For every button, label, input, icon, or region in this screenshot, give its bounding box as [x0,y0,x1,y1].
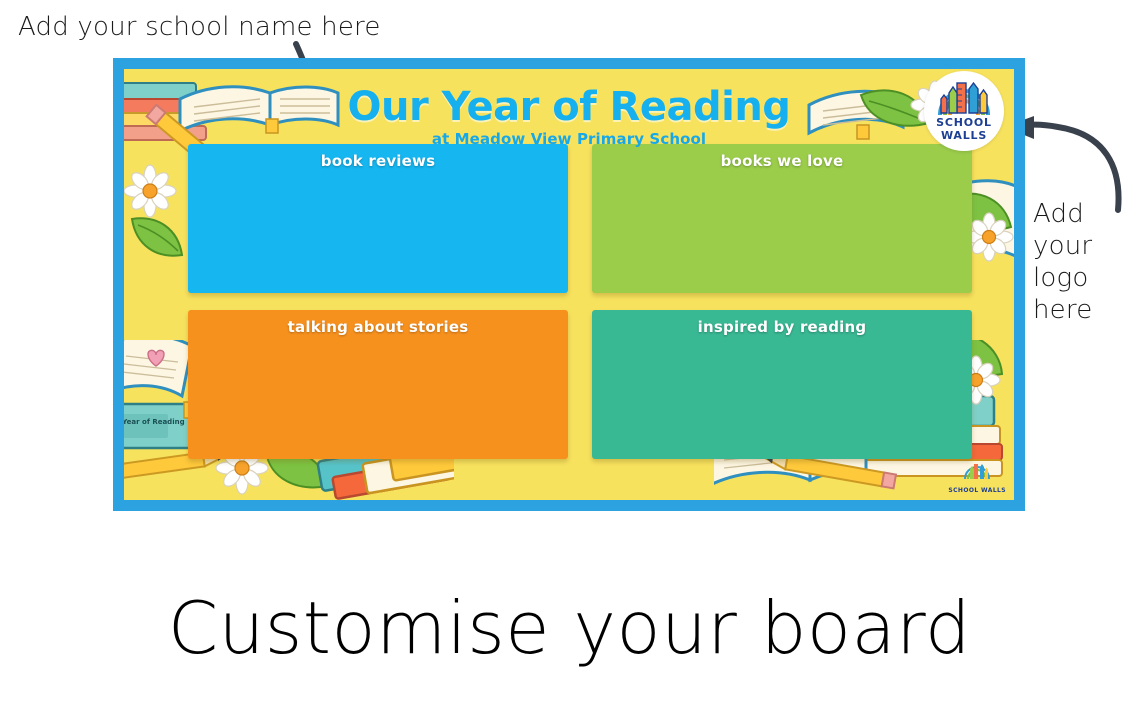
school-walls-emblem-icon [924,75,1004,121]
panel-grid: book reviews books we love talking about… [188,144,972,459]
panel-inspired-by-reading[interactable]: inspired by reading [592,310,972,459]
title-block: Our Year of Reading at Meadow View Prima… [124,85,1014,148]
panel-label-talking-about-stories: talking about stories [188,318,568,336]
panel-books-we-love[interactable]: books we love [592,144,972,293]
panel-label-book-reviews: book reviews [188,152,568,170]
decor-book-spine-label: Our Year of Reading [124,418,185,426]
panel-talking-about-stories[interactable]: talking about stories [188,310,568,459]
page-caption: Customise your board [0,586,1139,670]
watermark-label: SCHOOL WALLS [948,487,1006,494]
school-walls-watermark: SCHOOL WALLS [948,461,1006,494]
school-walls-logo[interactable]: SCHOOL WALLS [924,71,1004,151]
panel-label-books-we-love: books we love [592,152,972,170]
display-board: Our Year of Reading [113,58,1025,511]
school-walls-watermark-icon [959,461,995,481]
logo-text-school: SCHOOL [924,116,1004,129]
board-subtitle: at Meadow View Primary School [124,130,1014,148]
panel-label-inspired-by-reading: inspired by reading [592,318,972,336]
board-title: Our Year of Reading [124,85,1014,129]
logo-text-walls: WALLS [924,129,1004,142]
panel-book-reviews[interactable]: book reviews [188,144,568,293]
logo-hint-label: Add your logo here [1033,198,1125,326]
board-inner-surface: Our Year of Reading [124,69,1014,500]
